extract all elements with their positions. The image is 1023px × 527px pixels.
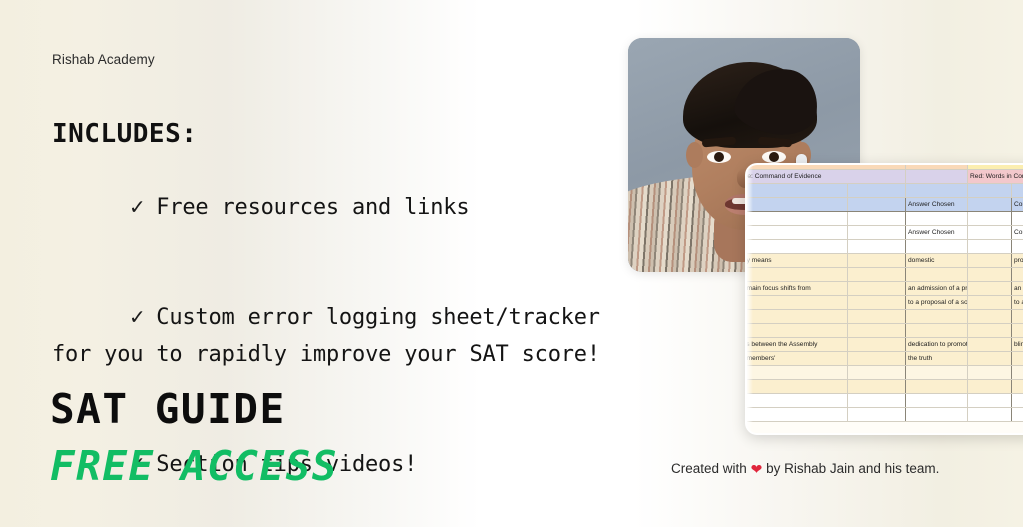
cell [848,366,906,380]
cell [968,198,1012,212]
cell [968,282,1012,296]
cell [906,240,968,254]
page-subtitle: FREE ACCESS [50,442,338,490]
table-row: nearly means domestic provincial [745,254,1023,268]
eye-right [762,151,786,163]
table-row: , the main focus shifts from an admissio… [745,282,1023,296]
list-item-label: Free resources and links [156,195,469,220]
cell [1012,324,1023,338]
table-row [745,408,1023,422]
cell [968,268,1012,282]
cell [848,198,906,212]
cell [848,324,906,338]
cell [906,394,968,408]
cell [1012,268,1023,282]
cell [1012,352,1023,366]
eye-left [707,151,731,163]
error-log-spreadsheet[interactable]: Orange: Careless Mistake Yellow: Standar… [745,163,1023,435]
cell [968,394,1012,408]
cell [968,226,1012,240]
cell [848,380,906,394]
cell [1012,366,1023,380]
table-row: rs Answer Chosen Correct Answer [745,226,1023,240]
cell [848,254,906,268]
cell [848,394,906,408]
table-row [745,366,1023,380]
cell [968,408,1012,422]
cell [745,380,848,394]
cell: domestic [906,254,968,268]
includes-heading: INCLUDES: [52,119,197,149]
cell [906,268,968,282]
cell [745,240,848,254]
cell [745,184,848,198]
table-row [745,212,1023,226]
cell: an admission of a problem [906,282,968,296]
cell [1012,380,1023,394]
brand-name: Rishab Academy [52,52,155,67]
heart-icon: ❤ [751,461,763,477]
cell [968,184,1012,198]
cell [745,366,848,380]
credit-prefix: Created with [671,461,747,476]
cell [1012,184,1023,198]
cell [745,394,848,408]
cell: their members' [745,352,848,366]
header-row: Answer Chosen Correct Answer [745,198,1023,212]
cell [848,352,906,366]
cell [745,310,848,324]
cell [1012,240,1023,254]
promo-slide: Rishab Academy INCLUDES: ✓Free resources… [0,0,1023,527]
cell [745,268,848,282]
cell [1012,212,1023,226]
spreadsheet-scroll-area[interactable]: Orange: Careless Mistake Yellow: Standar… [745,163,1023,422]
check-icon: ✓ [130,189,156,226]
cell: nearly means [745,254,848,268]
cell [906,212,968,226]
cell: Answer Chosen [906,226,968,240]
cell: , the main focus shifts from [745,282,848,296]
cell [848,310,906,324]
cell [848,212,906,226]
cell [968,254,1012,268]
cell [745,212,848,226]
cell [848,282,906,296]
cell: dedication to promoting [906,338,968,352]
cell [968,212,1012,226]
cell: to a proposal of a solution [906,296,968,310]
cell: to a dismissal o [1012,296,1023,310]
cell: the truth [906,352,968,366]
cell [848,338,906,352]
header-spacer-row [745,184,1023,198]
table-row: their members' the truth [745,352,1023,366]
table-row: draws between the Assembly dedication to… [745,338,1023,352]
check-icon: ✓ [130,299,156,336]
list-item: ✓Free resources and links [52,152,612,263]
table-row [745,240,1023,254]
cell [968,352,1012,366]
header-answer-chosen: Answer Chosen [906,198,968,212]
legend-row-2: Purple: Command of Evidence Red: Words i… [745,170,1023,184]
table-row [745,380,1023,394]
cell: rs [745,226,848,240]
header-correct-answer: Correct Answer [1012,198,1023,212]
cell [906,184,968,198]
cell [906,324,968,338]
cell [968,366,1012,380]
credit-line: Created with ❤ by Rishab Jain and his te… [671,461,939,478]
legend-spacer-2 [906,170,968,184]
cell [1012,394,1023,408]
cell [906,366,968,380]
page-title: SAT GUIDE [50,385,286,433]
cell [1012,408,1023,422]
cell [848,240,906,254]
cell [848,296,906,310]
cell: provincial [1012,254,1023,268]
cell [848,184,906,198]
cell [968,310,1012,324]
cell: draws between the Assembly [745,338,848,352]
cell [745,324,848,338]
cell [745,296,848,310]
legend-red: Red: Words in Context [968,170,1023,184]
cell [848,268,906,282]
cell [968,338,1012,352]
ear-left [686,142,703,168]
cell [906,310,968,324]
table-row [745,310,1023,324]
cell [848,226,906,240]
cell [968,240,1012,254]
table-row [745,268,1023,282]
cell: Correct Answer [1012,226,1023,240]
cell [745,198,848,212]
table-row [745,324,1023,338]
table-row: to a proposal of a solution to a dismiss… [745,296,1023,310]
spreadsheet-table: Orange: Careless Mistake Yellow: Standar… [745,163,1023,422]
cell: an acknowledgment [1012,282,1023,296]
cell [745,408,848,422]
cell [848,408,906,422]
legend-purple: Purple: Command of Evidence [745,170,906,184]
table-row [745,394,1023,408]
cell [968,324,1012,338]
cell [906,380,968,394]
cell [1012,310,1023,324]
cell: blindness to th [1012,338,1023,352]
cell [968,296,1012,310]
credit-suffix: by Rishab Jain and his team. [766,461,939,476]
cell [906,408,968,422]
cell [968,380,1012,394]
